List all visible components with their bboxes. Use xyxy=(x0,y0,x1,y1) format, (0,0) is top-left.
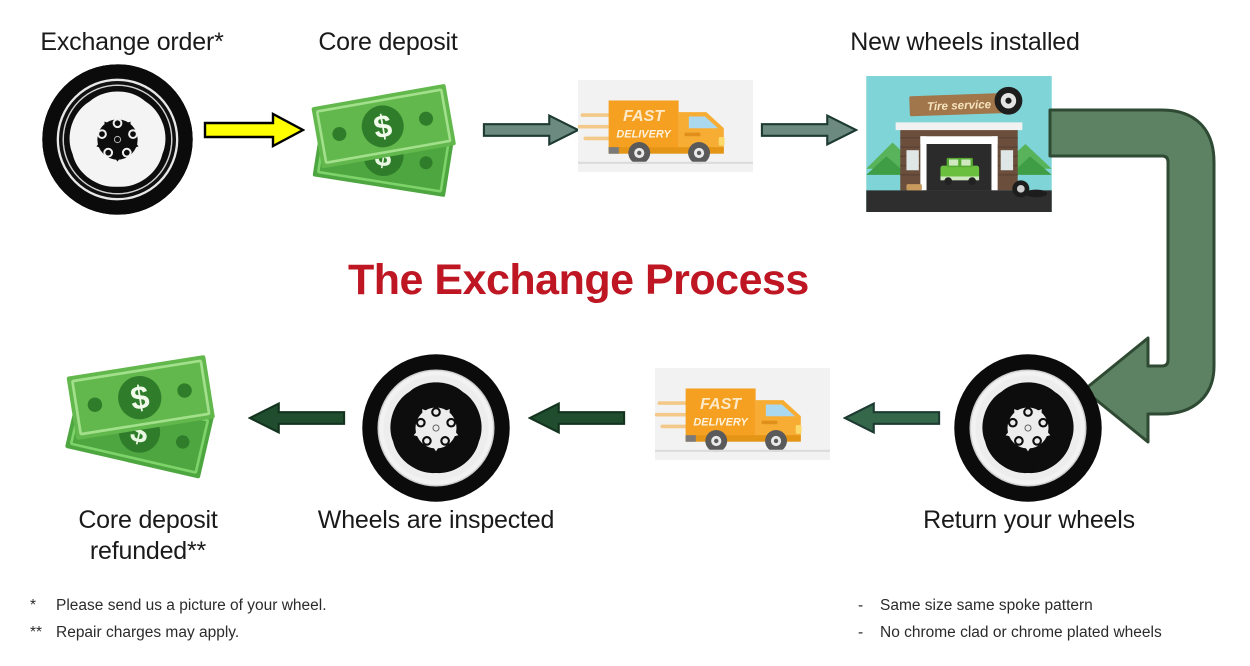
wheel-icon-return-your-wheels xyxy=(952,352,1104,504)
svg-text:DELIVERY: DELIVERY xyxy=(693,417,749,429)
money-icon-core-deposit: $ $ xyxy=(305,78,477,204)
footnote-right-2: - No chrome clad or chrome plated wheels xyxy=(858,620,1162,647)
delivery-truck-icon-shipping-out: FAST DELIVERY xyxy=(578,80,753,172)
step-label-wheels-are-inspected: Wheels are inspected xyxy=(300,505,572,536)
footnotes-left: * Please send us a picture of your wheel… xyxy=(30,593,327,646)
arrow-truck-to-inspected xyxy=(528,400,626,436)
footnotes-right: - Same size same spoke pattern - No chro… xyxy=(858,593,1162,646)
money-icon-core-deposit-refunded: $ $ xyxy=(58,350,238,480)
svg-text:DELIVERY: DELIVERY xyxy=(616,129,672,141)
arrow-deposit-to-truck xyxy=(482,112,580,148)
step-label-core-deposit-refunded-line1: Core deposit xyxy=(20,505,276,536)
footnote-right-1: - Same size same spoke pattern xyxy=(858,593,1162,620)
arrow-truck-to-shop xyxy=(760,112,858,148)
page-title: The Exchange Process xyxy=(348,256,809,305)
step-label-core-deposit: Core deposit xyxy=(288,27,488,58)
footnote-left-1-mark: * xyxy=(30,593,56,620)
footnote-right-2-mark: - xyxy=(858,620,880,647)
footnote-right-1-text: Same size same spoke pattern xyxy=(880,593,1093,620)
step-label-new-wheels-installed: New wheels installed xyxy=(810,27,1120,58)
arrow-inspected-to-refund xyxy=(248,400,346,436)
arrow-order-to-deposit xyxy=(203,112,305,148)
footnote-left-2: ** Repair charges may apply. xyxy=(30,620,327,647)
delivery-truck-icon-shipping-back: FAST DELIVERY xyxy=(655,368,830,460)
step-label-return-your-wheels: Return your wheels xyxy=(898,505,1160,536)
exchange-process-diagram: Exchange order* Core deposit New wheels … xyxy=(0,0,1250,666)
footnote-right-1-mark: - xyxy=(858,593,880,620)
svg-text:FAST: FAST xyxy=(623,107,665,125)
wheel-icon-exchange-order xyxy=(40,62,195,217)
footnote-left-2-mark: ** xyxy=(30,620,56,647)
svg-text:FAST: FAST xyxy=(700,395,742,413)
svg-text:Tire service: Tire service xyxy=(927,99,992,113)
footnote-left-2-text: Repair charges may apply. xyxy=(56,620,239,647)
step-label-core-deposit-refunded-line2: refunded** xyxy=(20,536,276,567)
wheel-icon-wheels-are-inspected xyxy=(360,352,512,504)
step-label-exchange-order: Exchange order* xyxy=(12,27,252,58)
step-label-core-deposit-refunded: Core deposit refunded** xyxy=(20,505,276,566)
footnote-left-1: * Please send us a picture of your wheel… xyxy=(30,593,327,620)
tire-service-shop-icon: Tire service xyxy=(866,76,1052,212)
footnote-right-2-text: No chrome clad or chrome plated wheels xyxy=(880,620,1162,647)
footnote-left-1-text: Please send us a picture of your wheel. xyxy=(56,593,327,620)
arrow-return-to-truck xyxy=(843,400,941,436)
